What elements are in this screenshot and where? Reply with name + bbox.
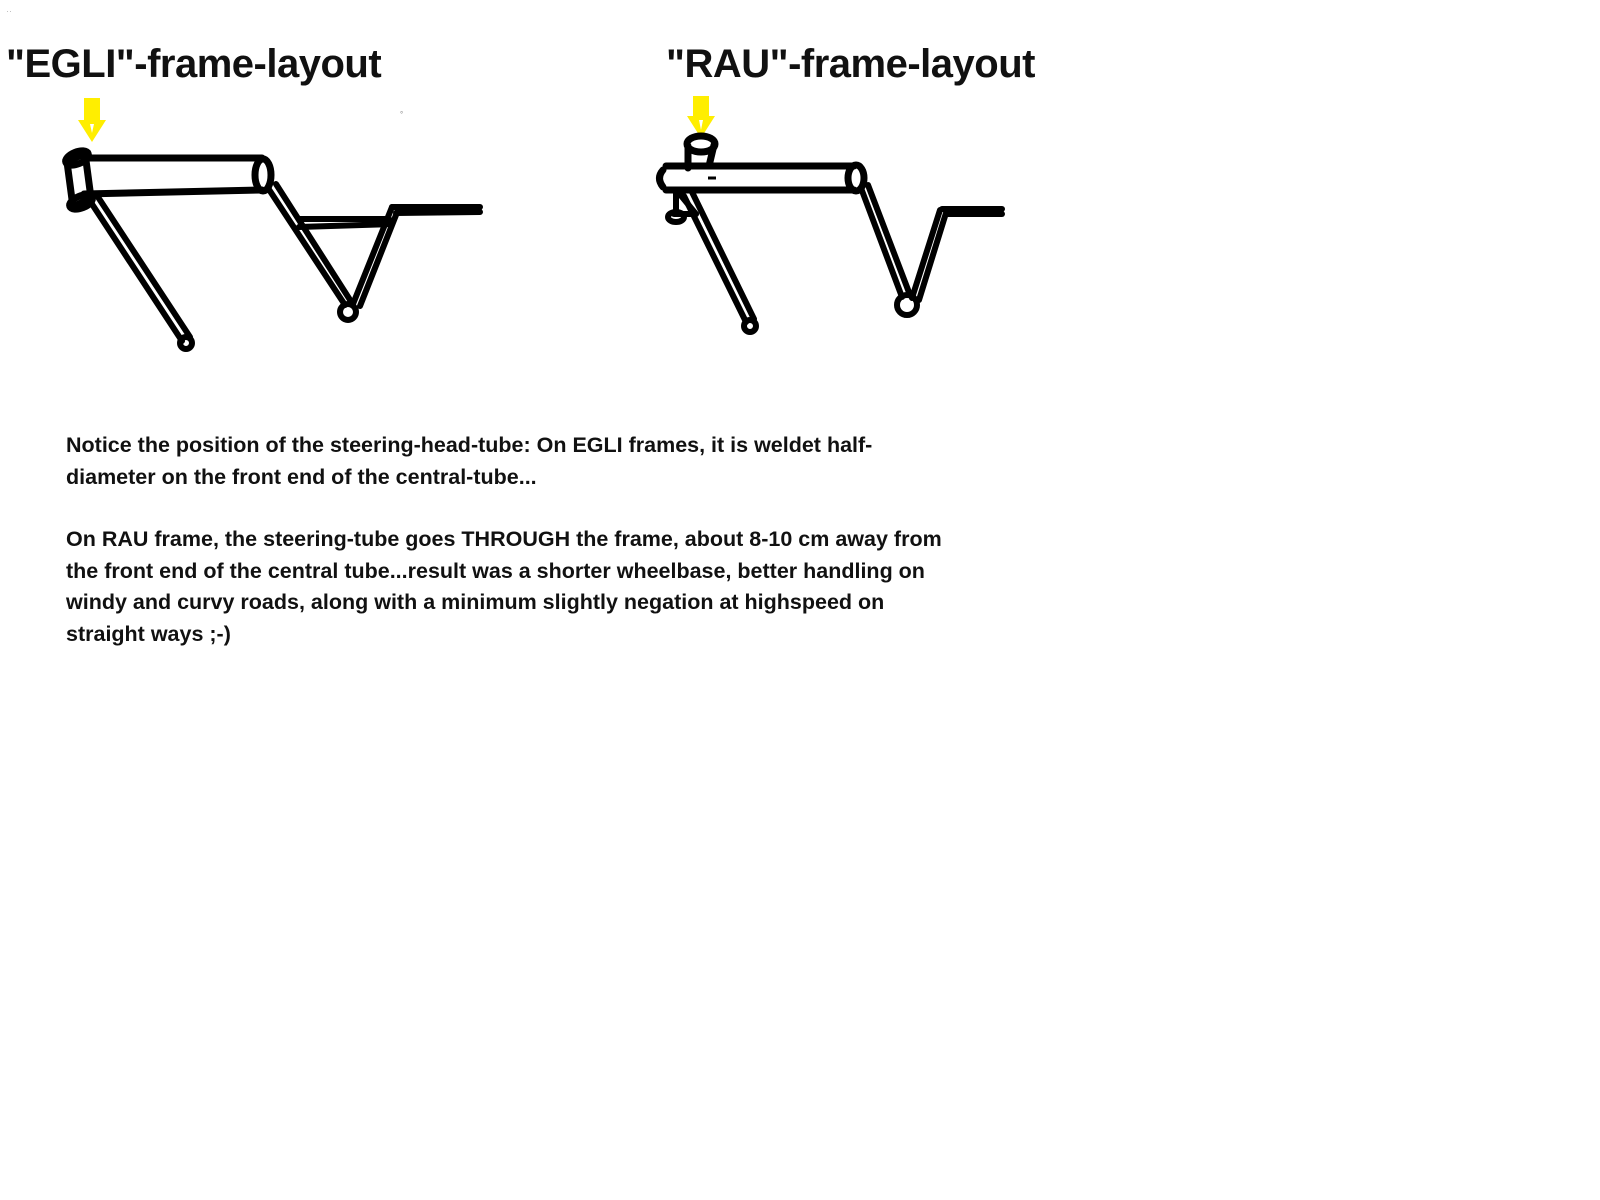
down-tube-egli xyxy=(88,194,192,349)
central-spine-tube-rau xyxy=(660,165,865,191)
scan-artifact-speck: ° xyxy=(400,110,403,119)
page-title-egli: "EGLI"-frame-layout xyxy=(6,42,381,86)
rear-v-rau xyxy=(861,185,1002,315)
page-title-rau: "RAU"-frame-layout xyxy=(666,42,1035,86)
paragraph-egli-line-2: diameter on the front end of the central… xyxy=(66,462,1016,494)
paragraph-rau-line-4: straight ways ;-) xyxy=(66,619,1016,651)
paragraph-rau-line-2: the front end of the central tube...resu… xyxy=(66,556,1016,588)
central-spine-tube-egli xyxy=(84,158,271,194)
paragraph-egli-line-1: Notice the position of the steering-head… xyxy=(66,430,1016,462)
scan-artifact-corner: ·· xyxy=(6,6,12,16)
paragraph-rau-line-1: On RAU frame, the steering-tube goes THR… xyxy=(66,524,1016,556)
down-arrow-icon-rau xyxy=(687,96,715,138)
down-tube-rau xyxy=(684,192,756,332)
explanatory-text-block: Notice the position of the steering-head… xyxy=(66,430,1016,650)
rear-triangle-egli xyxy=(268,184,480,320)
down-arrow-icon-egli xyxy=(78,98,106,142)
diagram-egli-frame xyxy=(40,90,500,375)
diagram-rau-frame xyxy=(630,90,1030,350)
paragraph-rau-line-3: windy and curvy roads, along with a mini… xyxy=(66,587,1016,619)
